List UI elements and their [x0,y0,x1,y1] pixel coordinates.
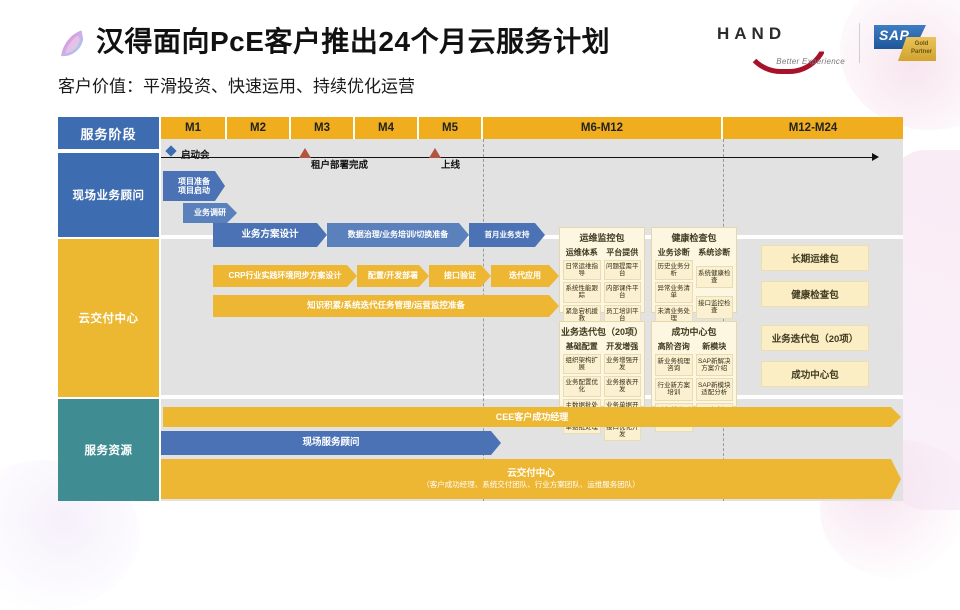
bar-crp-design: CRP行业实践环境同步方案设计 [213,265,357,287]
package-item[interactable]: SAP新模块适配分析 [696,378,734,400]
package-success-col-modules: 新模块 SAP新解决方案介绍 SAP新模块适配分析 IT规划 [696,341,734,403]
row-label-resource: 服务资源 [58,399,159,501]
package-ops-monitoring[interactable]: 运维监控包 运维体系 日常运维指导 系统性能跟踪 紧急宕机援救 月结审计支持 平… [559,227,645,313]
row-label-onsite: 现场业务顾问 [58,153,159,237]
package-ops-monitoring-title: 运维监控包 [560,228,644,244]
bar-cee-success-manager: CEE客户成功经理 [163,407,901,427]
bar-config-deploy: 配置/开发部署 [357,265,429,287]
plot-area: 启动会 租户部署完成 上线 项目准备 项目启动 业务调研 业务方案设计 数据治理… [161,139,903,501]
brand-mark-icon [56,27,90,61]
col-header-m6-m12: M6-M12 [483,117,723,139]
col-header-m1: M1 [161,117,227,139]
package-health-col-system: 系统诊断 系统健康检查 接口监控检查 [696,247,734,309]
package-item[interactable]: 业务报表开发 [604,376,642,396]
package-item[interactable]: 系统健康检查 [696,266,734,288]
package-ops-col-platform-head: 平台提供 [604,247,642,258]
logo-group: HAND Better Experience SAP Gold Partner [717,18,936,68]
bar-knowledge-ops: 知识积累/系统迭代任务管理/运营监控准备 [213,295,559,317]
milestone-marker-golive [429,148,441,158]
col-header-m4: M4 [355,117,419,139]
bar-project-prep-line1: 项目准备 [178,177,210,186]
package-iterate-col-dev: 开发增强 业务增强开发 业务报表开发 业务单据开发 接口优化开发 [604,341,642,403]
page-title: 汉得面向PcE客户推出24个月云服务计划 [96,20,610,60]
package-health-col-business: 业务诊断 历史业务分析 异常业务清单 未清业务处理 执行改善建议 [655,247,693,309]
timeline-axis [161,157,873,158]
divider-m12 [723,139,724,501]
milestone-label-kickoff: 启动会 [181,147,210,161]
package-iterate-col-config-head: 基础配置 [563,341,601,352]
hand-swoosh-icon [741,34,829,74]
milestone-marker-tenant [299,148,311,158]
package-iterate-col-dev-head: 开发增强 [604,341,642,352]
package-item[interactable]: 组织架构扩展 [563,354,601,374]
package-health-col-system-head: 系统诊断 [696,247,734,258]
bar-first-month-support: 首月业务支持 [469,223,545,247]
bar-iterative-apply: 迭代应用 [491,265,559,287]
package-health-check-title: 健康检查包 [652,228,736,244]
hand-logo: HAND Better Experience [717,18,845,68]
bar-cloud-delivery-title: 云交付中心 [507,469,555,480]
row-label-cloud: 云交付中心 [58,239,159,397]
milestone-marker-kickoff [165,145,176,156]
sap-logo: SAP Gold Partner [874,23,936,63]
package-business-iteration[interactable]: 业务迭代包（20项） 基础配置 组织架构扩展 业务配置优化 主数据批处理 单据批… [559,321,645,407]
col-header-m2: M2 [227,117,291,139]
package-item[interactable]: 异常业务清单 [655,282,693,302]
package-long-term-health[interactable]: 健康检查包 [761,281,869,307]
package-success-center[interactable]: 成功中心包 高阶咨询 新业务梳理咨询 行业新方案培训 财务新准则应对方案培训 新… [651,321,737,407]
package-item[interactable]: 历史业务分析 [655,260,693,280]
package-item[interactable]: 业务增强开发 [604,354,642,374]
sap-partner-text: Gold Partner [907,40,936,56]
package-success-col-advisory-head: 高阶咨询 [655,341,693,352]
package-health-check[interactable]: 健康检查包 业务诊断 历史业务分析 异常业务清单 未清业务处理 执行改善建议 系… [651,227,737,313]
package-ops-col-system: 运维体系 日常运维指导 系统性能跟踪 紧急宕机援救 月结审计支持 [563,247,601,309]
package-item[interactable]: 行业新方案培训 [655,378,693,400]
page-subtitle: 客户价值：平滑投资、快速运用、持续优化运营 [58,72,415,97]
package-ops-col-system-head: 运维体系 [563,247,601,258]
bar-data-training: 数据治理/业务培训/切换准备 [327,223,469,247]
bar-business-survey: 业务调研 [183,203,237,223]
package-item[interactable]: 新业务梳理咨询 [655,354,693,376]
package-long-term-ops[interactable]: 长期运维包 [761,245,869,271]
package-long-term-iteration[interactable]: 业务迭代包（20项） [761,325,869,351]
col-header-m5: M5 [419,117,483,139]
hand-tagline: Better Experience [776,57,845,66]
package-ops-col-platform: 平台提供 问题提需平台 内部课件平台 员工培训平台 运维知识平台 [604,247,642,309]
package-success-col-modules-head: 新模块 [696,341,734,352]
bar-onsite-service-consultant: 现场服务顾问 [161,431,501,455]
bar-interface-verify: 接口验证 [429,265,491,287]
package-success-col-advisory: 高阶咨询 新业务梳理咨询 行业新方案培训 财务新准则应对方案培训 [655,341,693,403]
package-item[interactable]: 业务配置优化 [563,376,601,396]
timeline-arrow-icon [872,153,879,161]
package-iterate-col-config: 基础配置 组织架构扩展 业务配置优化 主数据批处理 单据批处理 [563,341,601,403]
bar-cloud-delivery-center: 云交付中心 （客户成功经理、系统交付团队、行业方案团队、运维服务团队） [161,459,901,499]
page-header: 汉得面向PcE客户推出24个月云服务计划 客户价值：平滑投资、快速运用、持续优化… [0,0,960,110]
package-item[interactable]: 接口监控检查 [696,296,734,318]
package-item[interactable]: 问题提需平台 [604,260,642,280]
bar-solution-design: 业务方案设计 [213,223,327,247]
bar-cloud-delivery-sub: （客户成功经理、系统交付团队、行业方案团队、运维服务团队） [422,481,640,490]
package-item[interactable]: SAP新解决方案介绍 [696,354,734,376]
stage-label: 服务阶段 [58,117,159,149]
bar-project-prep: 项目准备 项目启动 [163,171,225,201]
package-item[interactable]: 系统性能跟踪 [563,282,601,302]
logo-divider [859,23,860,63]
package-item[interactable]: 内部课件平台 [604,282,642,302]
service-plan-chart: 服务阶段 M1 M2 M3 M4 M5 M6-M12 M12-M24 现场业务顾… [58,117,903,501]
package-business-iteration-title: 业务迭代包（20项） [560,322,644,338]
package-success-center-title: 成功中心包 [652,322,736,338]
bar-project-prep-line2: 项目启动 [178,186,210,195]
col-header-m12-m24: M12-M24 [723,117,903,139]
package-item[interactable]: 日常运维指导 [563,260,601,280]
sap-logo-text: SAP [879,27,909,43]
package-long-term-success[interactable]: 成功中心包 [761,361,869,387]
milestone-label-tenant: 租户部署完成 [311,157,368,171]
milestone-label-golive: 上线 [441,157,460,171]
row-gap-2 [161,395,903,399]
col-header-m3: M3 [291,117,355,139]
package-health-col-business-head: 业务诊断 [655,247,693,258]
